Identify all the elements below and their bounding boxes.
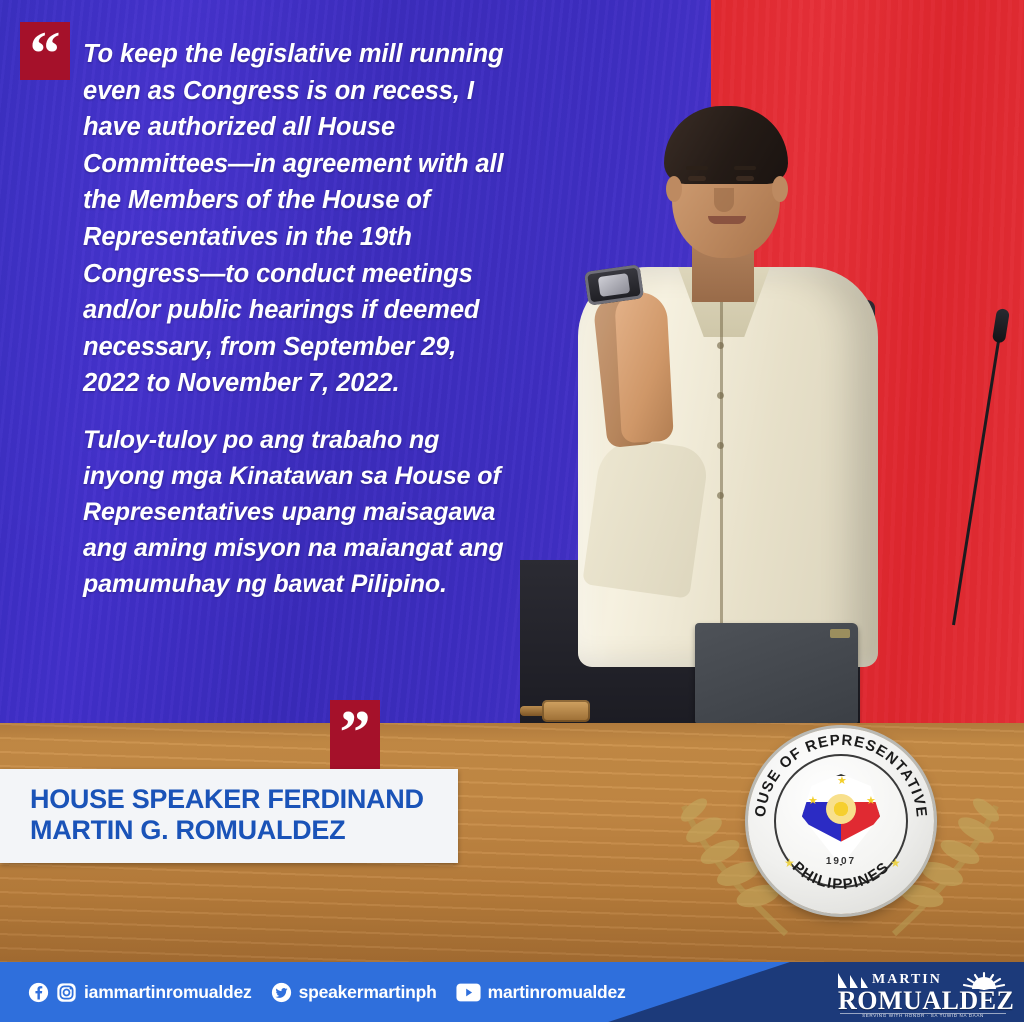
instagram-icon[interactable] bbox=[56, 982, 77, 1003]
quote-paragraph-2: Tuloy-tuloy po ang trabaho ng inyong mga… bbox=[83, 422, 513, 602]
praying-hands bbox=[596, 292, 692, 477]
facebook-icon[interactable] bbox=[28, 982, 49, 1003]
house-seal: HOUSE OF REPRESENTATIVES PHILIPPINES ★ ★… bbox=[690, 720, 990, 970]
poster: HOUSE OF REPRESENTATIVES PHILIPPINES ★ ★… bbox=[0, 0, 1024, 1022]
social-handle-youtube[interactable]: martinromualdez bbox=[488, 982, 626, 1003]
youtube-icon[interactable] bbox=[456, 982, 481, 1003]
quote-paragraph-1: To keep the legislative mill running eve… bbox=[83, 36, 513, 402]
twitter-icon[interactable] bbox=[271, 982, 292, 1003]
social-handle-facebook-instagram[interactable]: iammartinromualdez bbox=[84, 982, 252, 1003]
social-twitter[interactable]: speakermartinph bbox=[271, 982, 437, 1003]
gavel bbox=[520, 700, 608, 722]
seal-year: 1907 bbox=[748, 856, 934, 867]
hair bbox=[664, 106, 788, 184]
shirt-placket bbox=[720, 302, 723, 632]
logo-last-name: ROMUALDEZ bbox=[838, 988, 1008, 1014]
logo-tagline: SERVING WITH HONOR · SA TUWID NA DAAN bbox=[838, 1013, 1008, 1018]
speaker-name-line-1: HOUSE SPEAKER FERDINAND bbox=[30, 784, 460, 815]
social-handles: iammartinromualdez speakermartinph marti… bbox=[28, 962, 626, 1022]
social-handle-twitter[interactable]: speakermartinph bbox=[299, 982, 437, 1003]
seal-disc: HOUSE OF REPRESENTATIVES PHILIPPINES ★ ★… bbox=[748, 728, 934, 914]
laptop bbox=[695, 623, 858, 723]
quote-text: To keep the legislative mill running eve… bbox=[83, 36, 513, 602]
philippine-coat-of-arms: ★ ★ ★ bbox=[802, 774, 880, 866]
close-quote-mark: ” bbox=[330, 700, 380, 772]
martin-romualdez-logo: MARTIN ROMUALDEZ SERVING WITH HO bbox=[838, 968, 1008, 1016]
open-quote-mark: “ bbox=[20, 22, 70, 80]
speaker-name: HOUSE SPEAKER FERDINAND MARTIN G. ROMUAL… bbox=[30, 784, 460, 846]
social-youtube[interactable]: martinromualdez bbox=[456, 982, 626, 1003]
social-facebook-instagram[interactable]: iammartinromualdez bbox=[28, 982, 252, 1003]
speaker-figure bbox=[560, 92, 890, 652]
footer-bar: iammartinromualdez speakermartinph marti… bbox=[0, 962, 1024, 1022]
speaker-name-line-2: MARTIN G. ROMUALDEZ bbox=[30, 815, 460, 846]
